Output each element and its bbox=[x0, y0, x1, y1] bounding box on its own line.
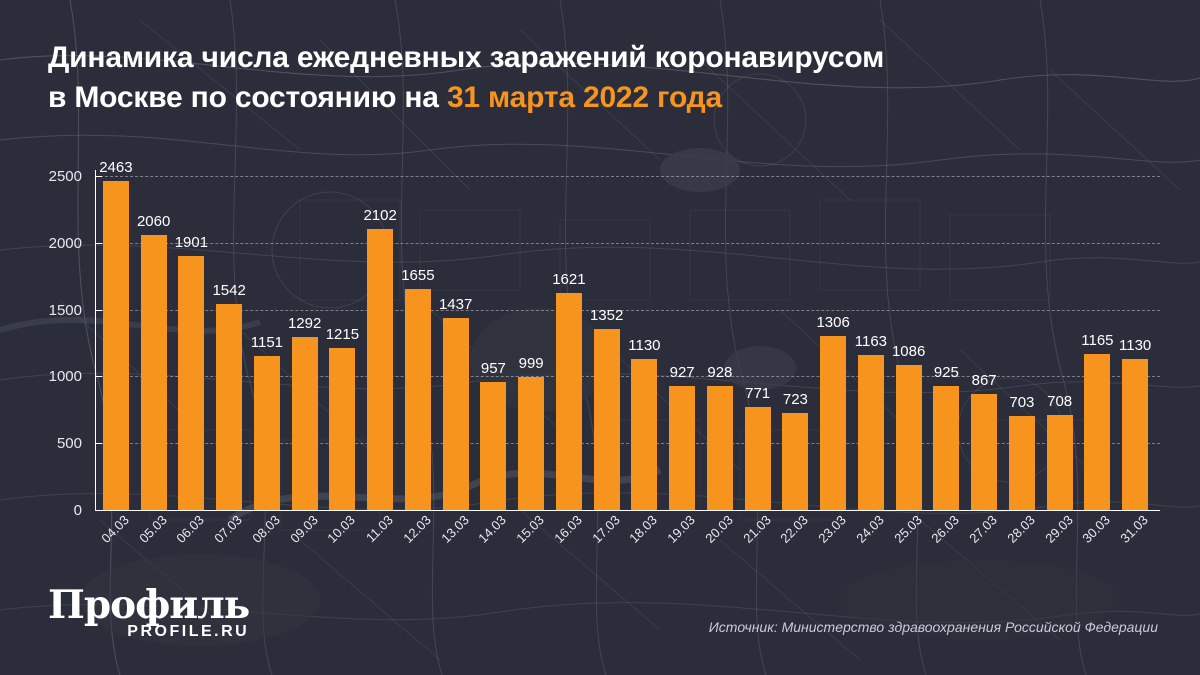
bar-value-label: 708 bbox=[1047, 394, 1072, 409]
bar-value-label: 925 bbox=[934, 365, 959, 380]
bar-column[interactable]: 1352 bbox=[594, 160, 620, 510]
bar[interactable] bbox=[858, 355, 884, 510]
page-title: Динамика числа ежедневных заражений коро… bbox=[48, 38, 1168, 118]
bar-column[interactable]: 1621 bbox=[556, 160, 582, 510]
bar-value-label: 1901 bbox=[175, 235, 208, 250]
bar-column[interactable]: 708 bbox=[1047, 160, 1073, 510]
bar-column[interactable]: 867 bbox=[971, 160, 997, 510]
y-axis-tick-label: 1000 bbox=[22, 369, 82, 384]
bar-column[interactable]: 1165 bbox=[1084, 160, 1110, 510]
bar-value-label: 723 bbox=[783, 392, 808, 407]
bar-column[interactable]: 2463 bbox=[103, 160, 129, 510]
infographic-root: Динамика числа ежедневных заражений коро… bbox=[0, 0, 1200, 675]
bar-column[interactable]: 1437 bbox=[443, 160, 469, 510]
logo-wordmark: Профиль bbox=[48, 585, 249, 625]
bar-column[interactable]: 957 bbox=[480, 160, 506, 510]
bar-value-label: 1437 bbox=[439, 297, 472, 312]
bar-value-label: 2463 bbox=[99, 160, 132, 175]
bar[interactable] bbox=[292, 337, 318, 510]
source-note: Источник: Министерство здравоохранения Р… bbox=[709, 619, 1158, 635]
bar-value-label: 928 bbox=[707, 365, 732, 380]
bar-value-label: 1621 bbox=[552, 272, 585, 287]
bar[interactable] bbox=[329, 348, 355, 510]
bar-value-label: 1542 bbox=[212, 283, 245, 298]
bar[interactable] bbox=[820, 336, 846, 510]
bar[interactable] bbox=[443, 318, 469, 510]
bar-column[interactable]: 2060 bbox=[141, 160, 167, 510]
bar[interactable] bbox=[556, 293, 582, 510]
bar[interactable] bbox=[1122, 359, 1148, 510]
bar-column[interactable]: 1292 bbox=[292, 160, 318, 510]
bar-value-label: 703 bbox=[1009, 395, 1034, 410]
bar-value-label: 1215 bbox=[326, 327, 359, 342]
bar[interactable] bbox=[367, 229, 393, 510]
bar-value-label: 1165 bbox=[1081, 333, 1113, 348]
bar-column[interactable]: 1306 bbox=[820, 160, 846, 510]
bar-column[interactable]: 928 bbox=[707, 160, 733, 510]
profile-logo: Профиль PROFILE.RU bbox=[48, 585, 249, 641]
bar-value-label: 1306 bbox=[816, 315, 849, 330]
bar[interactable] bbox=[103, 181, 129, 510]
bar[interactable] bbox=[254, 356, 280, 510]
bar-column[interactable]: 1542 bbox=[216, 160, 242, 510]
bar-column[interactable]: 723 bbox=[782, 160, 808, 510]
bar[interactable] bbox=[594, 329, 620, 510]
bar-column[interactable]: 925 bbox=[933, 160, 959, 510]
y-axis-tick-label: 0 bbox=[22, 503, 82, 518]
bar[interactable] bbox=[178, 256, 204, 510]
x-axis-labels: 04.0305.0306.0307.0308.0309.0310.0311.03… bbox=[95, 513, 1160, 573]
bar[interactable] bbox=[896, 365, 922, 510]
bar-column[interactable]: 1086 bbox=[896, 160, 922, 510]
title-date-accent: 31 марта 2022 года bbox=[447, 81, 722, 114]
bar-column[interactable]: 1130 bbox=[1122, 160, 1148, 510]
bar-group: 2463206019011542115112921215210216551437… bbox=[95, 160, 1160, 510]
y-axis-tick-label: 2000 bbox=[22, 236, 82, 251]
bar-value-label: 1130 bbox=[1119, 338, 1151, 353]
bar-column[interactable]: 999 bbox=[518, 160, 544, 510]
bar-column[interactable]: 771 bbox=[745, 160, 771, 510]
bar-value-label: 1151 bbox=[251, 335, 283, 350]
bar-column[interactable]: 1151 bbox=[254, 160, 280, 510]
bar[interactable] bbox=[631, 359, 657, 510]
bar-column[interactable]: 703 bbox=[1009, 160, 1035, 510]
title-line-1: Динамика числа ежедневных заражений коро… bbox=[48, 38, 1168, 78]
y-axis-tick-label: 1500 bbox=[22, 303, 82, 318]
bar[interactable] bbox=[141, 235, 167, 510]
bar-column[interactable]: 1130 bbox=[631, 160, 657, 510]
bar-value-label: 999 bbox=[519, 356, 544, 371]
bar-value-label: 1086 bbox=[892, 344, 925, 359]
title-line-2-prefix: в Москве по состоянию на bbox=[48, 81, 447, 114]
bar[interactable] bbox=[405, 289, 431, 510]
bar-column[interactable]: 1215 bbox=[329, 160, 355, 510]
bar-value-label: 957 bbox=[481, 361, 506, 376]
bar-value-label: 1655 bbox=[401, 268, 434, 283]
bar-column[interactable]: 2102 bbox=[367, 160, 393, 510]
bar-value-label: 1130 bbox=[628, 338, 660, 353]
bar-column[interactable]: 1655 bbox=[405, 160, 431, 510]
y-axis-tick-label: 2500 bbox=[22, 169, 82, 184]
y-axis-tick-label: 500 bbox=[22, 436, 82, 451]
bar-value-label: 771 bbox=[745, 386, 770, 401]
bar-value-label: 1352 bbox=[590, 308, 623, 323]
bar-value-label: 927 bbox=[670, 365, 695, 380]
bar-value-label: 2102 bbox=[363, 208, 396, 223]
bar[interactable] bbox=[1084, 354, 1110, 510]
y-tick-mark bbox=[95, 510, 102, 511]
bar-column[interactable]: 1163 bbox=[858, 160, 884, 510]
bar-column[interactable]: 1901 bbox=[178, 160, 204, 510]
bar-value-label: 1163 bbox=[855, 334, 887, 349]
bar[interactable] bbox=[216, 304, 242, 510]
bar-value-label: 2060 bbox=[137, 214, 170, 229]
bar-value-label: 1292 bbox=[288, 316, 321, 331]
title-line-2: в Москве по состоянию на 31 марта 2022 г… bbox=[48, 78, 1168, 118]
bar-value-label: 867 bbox=[972, 373, 997, 388]
bar-column[interactable]: 927 bbox=[669, 160, 695, 510]
